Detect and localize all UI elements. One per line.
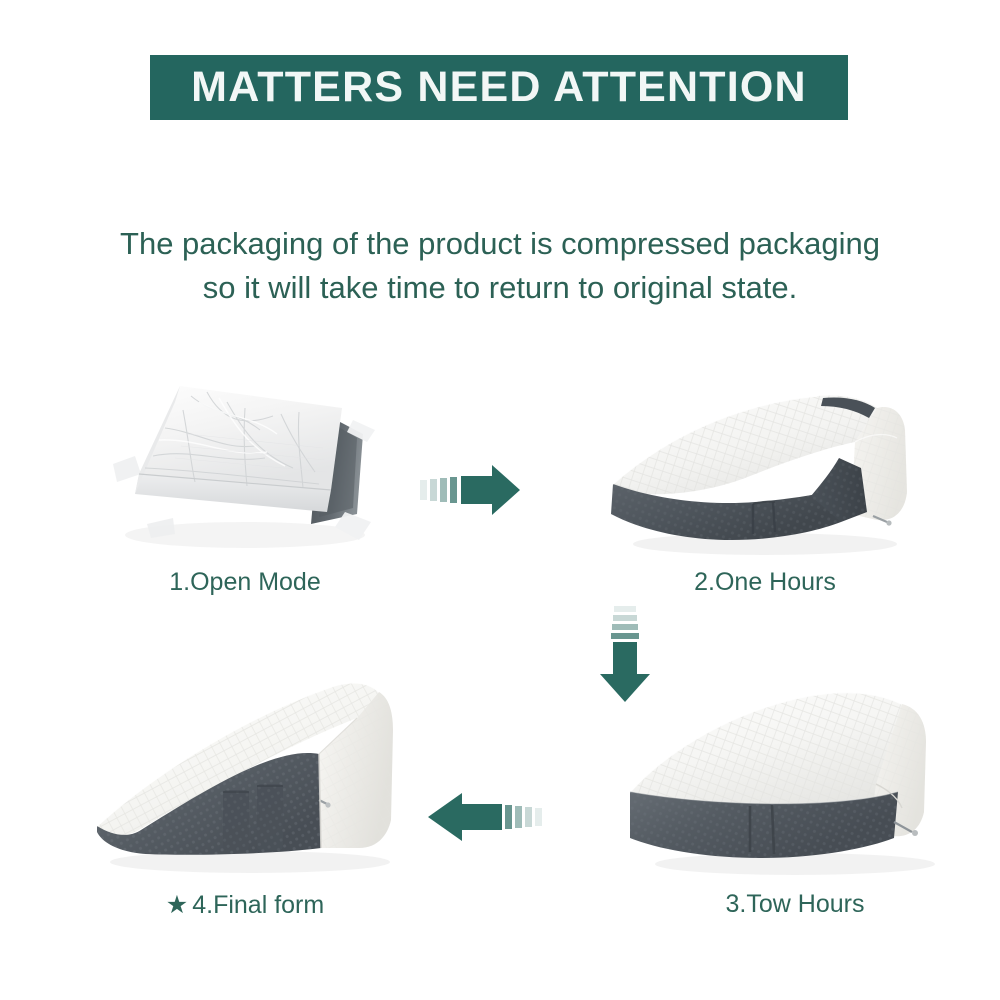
arrow-step3-to-step4 (412, 788, 544, 846)
step-4-caption: ★4.Final form (75, 890, 415, 920)
subtitle-line-1: The packaging of the product is compress… (20, 222, 980, 266)
step-2-label: 2.One Hours (694, 568, 836, 596)
step-2-caption: 2.One Hours (605, 568, 925, 597)
arrow-step2-to-step3 (596, 604, 654, 704)
step-3-caption: 3.Tow Hours (630, 890, 960, 919)
mostly-expanded-pillow-image (630, 672, 960, 877)
step-2-one-hours: 2.One Hours (605, 372, 925, 607)
compressed-package-image (95, 372, 395, 557)
subtitle-text: The packaging of the product is compress… (20, 222, 980, 310)
subtitle-line-2: so it will take time to return to origin… (20, 266, 980, 310)
header-banner: MATTERS NEED ATTENTION (150, 55, 848, 120)
page-title: MATTERS NEED ATTENTION (191, 66, 807, 109)
step-3-label: 3.Tow Hours (726, 890, 865, 918)
step-1-caption: 1.Open Mode (95, 568, 395, 597)
step-1-open-mode: 1.Open Mode (95, 372, 395, 607)
partially-expanded-pillow-image (605, 372, 925, 557)
final-wedge-pillow-image (75, 672, 415, 877)
step-1-label: 1.Open Mode (169, 568, 321, 596)
step-4-label: 4.Final form (192, 891, 324, 919)
star-icon: ★ (166, 891, 188, 919)
arrow-step1-to-step2 (418, 462, 522, 518)
step-3-tow-hours: 3.Tow Hours (630, 672, 960, 932)
step-4-final-form: ★4.Final form (75, 672, 415, 932)
